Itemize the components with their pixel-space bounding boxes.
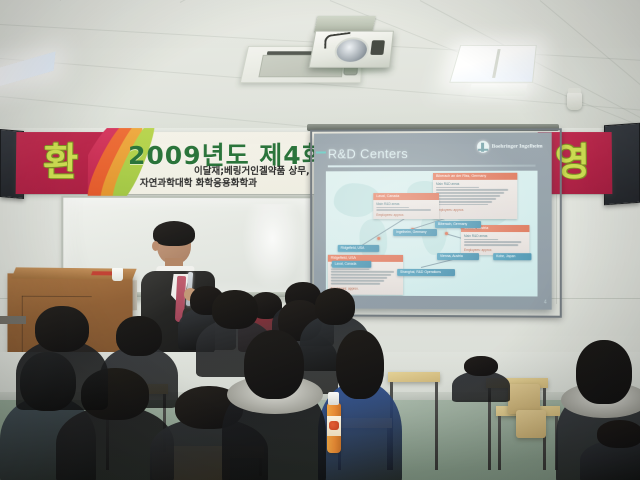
- person-head: [576, 340, 632, 404]
- slide-node-laval: Laval, CanadaMain R&D areasEmployees: ap…: [373, 193, 439, 219]
- node-footer: Employees: approx.: [373, 212, 439, 218]
- lecture-hall-photo: 환 영 2009년도 제4회 이달재;베링거인겔약품 상무, 자연과학대학 화학…: [0, 0, 640, 480]
- world-map-graphic: Biberach an der Riss, GermanyMain R&D ar…: [326, 171, 538, 297]
- screen-roller: [307, 124, 559, 131]
- person-head: [35, 306, 88, 352]
- projection-screen: R&D Centers Boehringer Ingelheim Biberac…: [314, 132, 552, 309]
- slide-title-rule: [328, 165, 536, 168]
- ceiling-projector: [309, 31, 394, 68]
- node-footer: Employees: approx.: [433, 207, 517, 213]
- slide-title: R&D Centers: [328, 146, 408, 161]
- projector-port: [370, 40, 385, 55]
- fluorescent-light-right: [449, 45, 537, 83]
- audience-member-front: [222, 330, 326, 480]
- desk-leg: [498, 416, 501, 470]
- person-head: [464, 356, 498, 376]
- person-head: [212, 290, 257, 329]
- smoke-detector-icon: [567, 92, 582, 110]
- node-header: Laval, Canada: [373, 193, 439, 200]
- person-head: [336, 330, 385, 399]
- bottle-label: [327, 416, 341, 436]
- slide-location-tag: Laval, Canada: [332, 261, 372, 268]
- bottle-cap: [328, 392, 339, 405]
- light-diffuser-right: [469, 84, 528, 96]
- person-head: [315, 288, 356, 325]
- slide-node-biberach: Biberach an der Riss, GermanyMain R&D ar…: [433, 173, 517, 219]
- paper-cup: [112, 268, 123, 281]
- node-body-lines: [433, 185, 517, 205]
- slide-location-tag: Vienna, Austria: [437, 253, 479, 260]
- node-body-lines: [373, 205, 439, 211]
- slide-location-tag: Kobe, Japan: [493, 253, 531, 260]
- desk-leg: [435, 382, 438, 470]
- company-name-text: Boehringer Ingelheim: [492, 143, 543, 149]
- slide-node-vienna: Vienna, AustriaMain R&D areasEmployees: …: [461, 225, 529, 255]
- presenter-ear: [152, 241, 159, 251]
- node-body-lines: [461, 238, 529, 246]
- slide-location-tag: Biberach, Germany: [435, 221, 481, 228]
- slide-location-tag: Ridgefield, USA: [338, 245, 380, 252]
- person-head: [116, 316, 161, 356]
- audience-member-right: [452, 356, 510, 400]
- slide-location-tag: Ingelheim, Germany: [393, 229, 437, 236]
- company-mark-icon: [477, 141, 489, 153]
- boehringer-ingelheim-logo: Boehringer Ingelheim: [477, 140, 543, 152]
- projector-mount: [314, 16, 375, 32]
- presenter-hair: [153, 221, 195, 246]
- person-head: [244, 330, 304, 399]
- audience-member-front: [16, 306, 108, 406]
- slide-title-tick: [316, 151, 326, 153]
- slide-location-tag: Shanghai, R&D Operations: [397, 269, 455, 276]
- person-head: [597, 420, 640, 448]
- audience-member-right: [580, 420, 640, 480]
- banner-char-welcome-2: 영: [555, 140, 590, 184]
- banner-char-welcome-1: 환: [43, 140, 78, 184]
- whiteboard-glare: [242, 204, 303, 290]
- chair-back: [516, 410, 546, 438]
- slide-page-number: 4: [544, 300, 547, 306]
- node-body-lines: [328, 267, 403, 284]
